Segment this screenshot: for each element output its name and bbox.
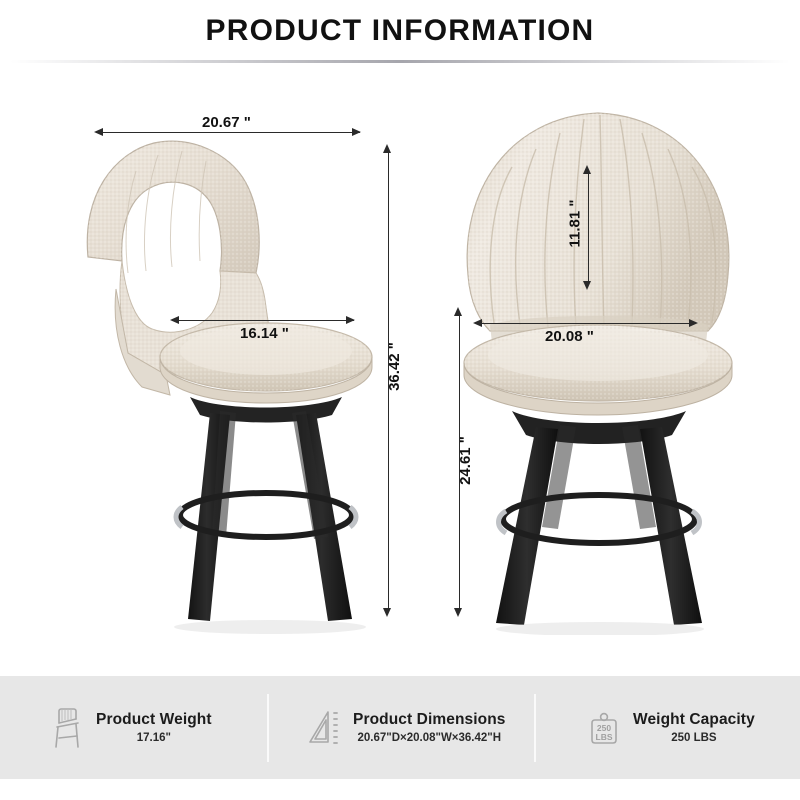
arrowhead-seat-depth-left bbox=[170, 316, 179, 324]
dimension-label-seat-depth: 16.14 " bbox=[240, 325, 289, 342]
dimension-label-backrest-height: 11.81 " bbox=[567, 200, 584, 248]
dimension-label-overall-height: 36.42 " bbox=[386, 342, 403, 391]
arrowhead-backrest-height-bottom bbox=[583, 281, 591, 290]
floor-shadow bbox=[174, 620, 366, 634]
spec-title-product-dimensions: Product Dimensions bbox=[353, 711, 506, 729]
arrowhead-seat-depth-right bbox=[346, 316, 355, 324]
arrowhead-seat-height-top bbox=[454, 307, 462, 316]
dimension-label-seat-height: 24.61 " bbox=[457, 436, 474, 485]
spec-value-product-weight: 17.16" bbox=[137, 732, 171, 744]
arrowhead-overall-width-left bbox=[473, 319, 482, 327]
spec-text-product-dimensions: Product Dimensions 20.67"D×20.08"W×36.42… bbox=[353, 711, 506, 745]
arrowhead-seat-height-bottom bbox=[454, 608, 462, 617]
product-illustrations: 20.67 " 16.14 " 36.42 " 24.61 " 11.81 " … bbox=[0, 70, 800, 670]
dimension-line-overall-width bbox=[477, 323, 695, 324]
arrowhead-overall-height-top bbox=[383, 144, 391, 153]
swivel-bar-stool-side-view bbox=[70, 75, 410, 635]
spec-text-weight-capacity: Weight Capacity 250 LBS bbox=[633, 711, 755, 745]
swivel-bar-stool-front-view bbox=[450, 75, 750, 635]
weight-tag-icon: 250 LBS bbox=[583, 705, 625, 751]
arrowhead-backrest-height-top bbox=[583, 165, 591, 174]
spec-divider-1 bbox=[267, 694, 269, 762]
spec-item-product-dimensions: Product Dimensions 20.67"D×20.08"W×36.42… bbox=[303, 676, 506, 779]
spec-bar: Product Weight 17.16" bbox=[0, 676, 800, 779]
spec-divider-2 bbox=[534, 694, 536, 762]
spec-text-product-weight: Product Weight 17.16" bbox=[96, 711, 212, 745]
spec-item-product-weight: Product Weight 17.16" bbox=[46, 676, 212, 779]
triangle-ruler-icon bbox=[303, 705, 345, 751]
weight-tag-icon-value-bottom: LBS bbox=[596, 732, 613, 742]
spec-item-weight-capacity: 250 LBS Weight Capacity 250 LBS bbox=[583, 676, 755, 779]
dimension-line-overall-depth bbox=[96, 132, 360, 133]
product-information-page: PRODUCT INFORMATION bbox=[0, 0, 800, 800]
page-title: PRODUCT INFORMATION bbox=[0, 14, 800, 48]
floor-shadow bbox=[496, 622, 704, 635]
spec-title-product-weight: Product Weight bbox=[96, 711, 212, 729]
spec-title-weight-capacity: Weight Capacity bbox=[633, 711, 755, 729]
arrowhead-overall-width-right bbox=[689, 319, 698, 327]
arrowhead-overall-depth-left bbox=[94, 128, 103, 136]
spec-value-product-dimensions: 20.67"D×20.08"W×36.42"H bbox=[357, 732, 501, 744]
dimension-line-backrest-height bbox=[588, 173, 589, 285]
title-divider bbox=[10, 60, 790, 63]
dimension-line-seat-depth bbox=[172, 320, 354, 321]
dimension-label-overall-width: 20.08 " bbox=[545, 328, 594, 345]
dimension-label-overall-depth: 20.67 " bbox=[202, 114, 251, 131]
arrowhead-overall-depth-right bbox=[352, 128, 361, 136]
bar-stool-icon bbox=[46, 705, 88, 751]
arrowhead-overall-height-bottom bbox=[383, 608, 391, 617]
spec-value-weight-capacity: 250 LBS bbox=[671, 732, 716, 744]
